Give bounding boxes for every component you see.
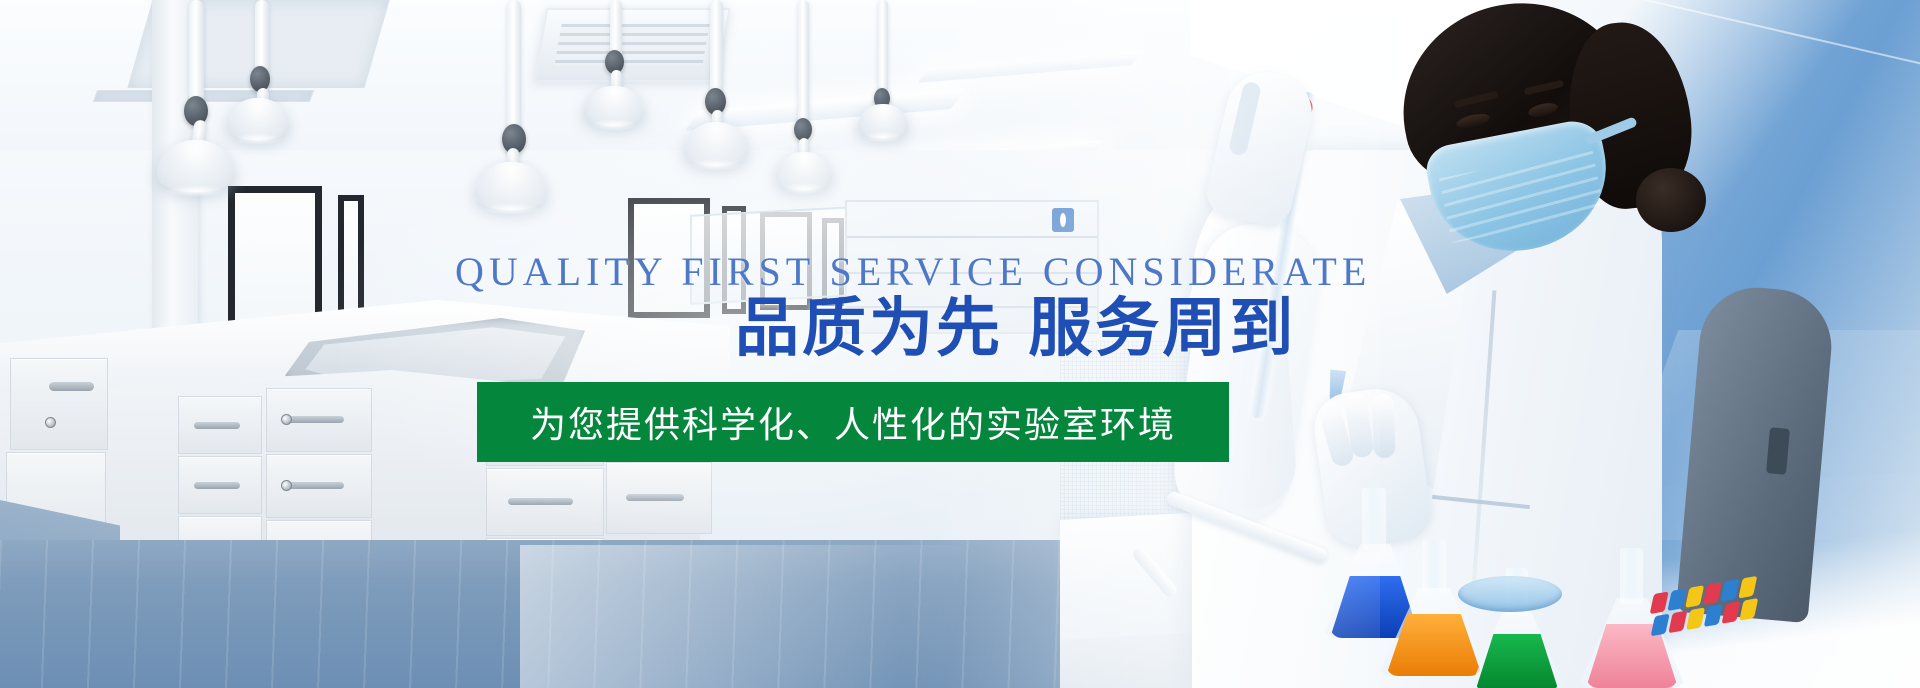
banner-headline: 品质为先 服务周到 [735,296,1296,364]
banner-subtitle-text: 为您提供科学化、人性化的实验室环境 [530,396,1176,448]
banner-text-layer: QUALITY FIRST SERVICE CONSIDERATE 品质为先 服… [0,0,1920,688]
hero-banner: QUALITY FIRST SERVICE CONSIDERATE 品质为先 服… [0,0,1920,688]
banner-eyebrow-text: QUALITY FIRST SERVICE CONSIDERATE [455,252,1371,292]
banner-subtitle-bar: 为您提供科学化、人性化的实验室环境 [477,382,1229,462]
